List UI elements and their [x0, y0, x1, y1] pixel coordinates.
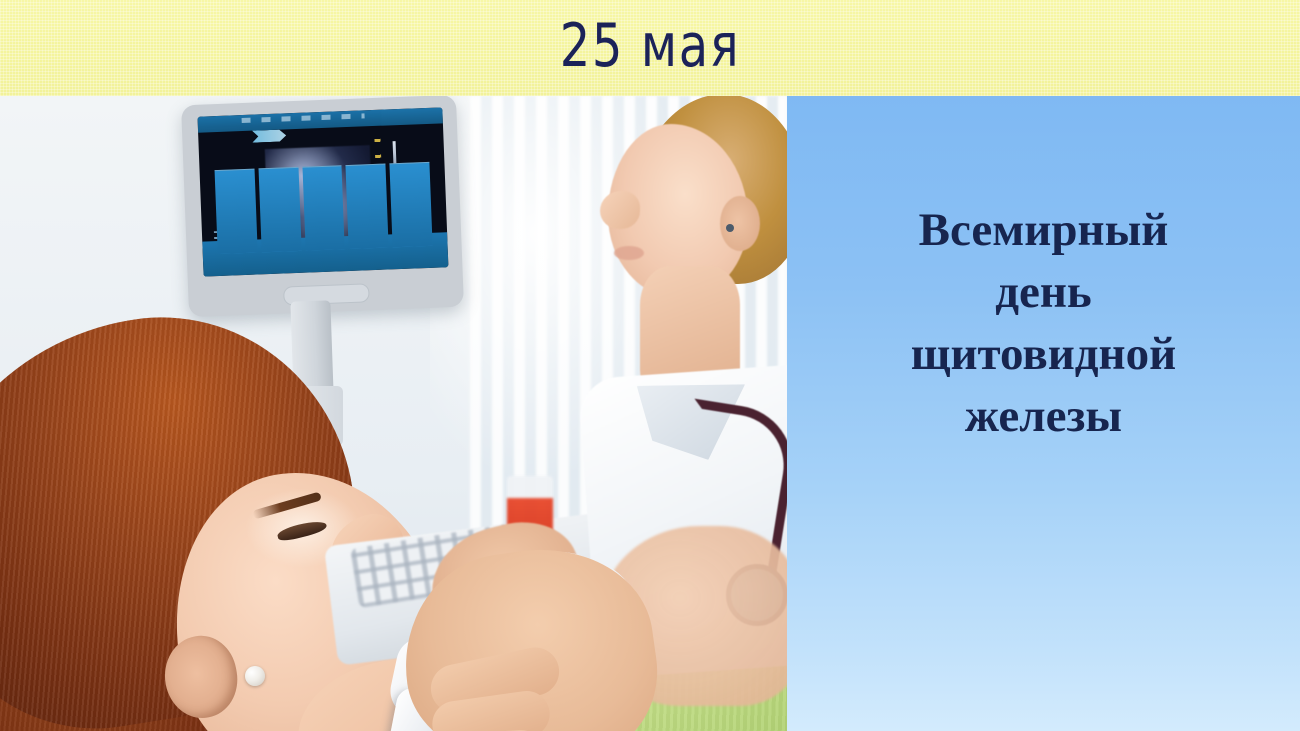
clinic-photo: [0, 96, 787, 731]
screen-tab: [346, 164, 389, 249]
page-title-line: щитовидной: [813, 323, 1274, 385]
title-panel: Всемирный день щитовидной железы Избир К…: [787, 96, 1300, 731]
header-band: 25 мая: [0, 0, 1300, 96]
screen-tab: [302, 166, 345, 251]
page-title-line: железы: [813, 385, 1274, 447]
screen-top-toolbar: [197, 107, 442, 132]
page-title-line: Всемирный: [813, 199, 1274, 261]
pearl-earring: [245, 666, 265, 686]
screen-tab: [258, 167, 301, 252]
ultrasound-monitor: [181, 96, 464, 317]
screen-tab: [390, 162, 433, 247]
page-title: Всемирный день щитовидной железы: [787, 199, 1300, 447]
screen-vendor-logo: [252, 129, 286, 142]
screen-tab: [214, 169, 257, 254]
doctor-ear: [720, 196, 760, 251]
doctor-lips: [614, 246, 644, 260]
page-title-line: день: [813, 261, 1274, 323]
poster: 25 мая: [0, 0, 1300, 731]
doctor-nose: [600, 191, 640, 229]
screen-tab-row: [214, 162, 433, 253]
doctor-earring: [726, 224, 734, 232]
ultrasound-screen: [197, 107, 448, 276]
header-date-text: 25 мая: [130, 8, 1170, 84]
